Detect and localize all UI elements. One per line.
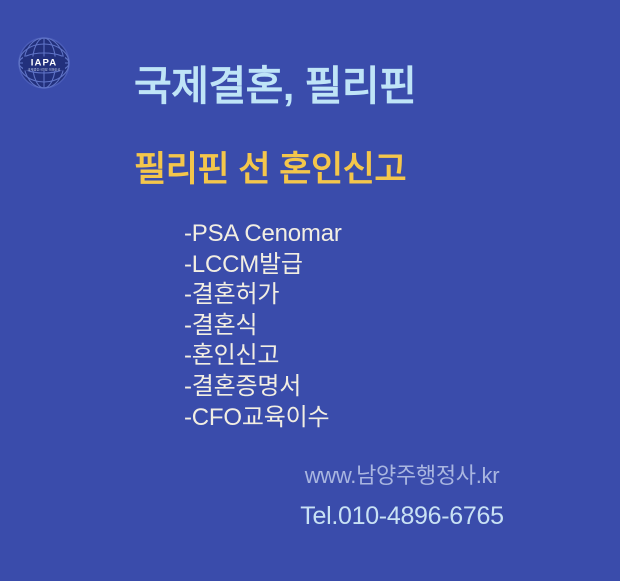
- website-url[interactable]: www.남양주행정사.kr: [272, 459, 532, 492]
- list-item: -결혼증명서: [184, 372, 342, 403]
- list-item: -PSA Cenomar: [184, 219, 342, 250]
- page-title: 국제결혼, 필리핀: [134, 63, 416, 110]
- globe-iapa-logo-icon: IAPA 국제행정사연합·대한민국: [17, 36, 71, 90]
- list-item: -LCCM발급: [184, 250, 342, 281]
- page-subtitle: 필리핀 선 혼인신고: [134, 150, 406, 190]
- poster-canvas: IAPA 국제행정사연합·대한민국 국제결혼, 필리핀 필리핀 선 혼인신고 -…: [0, 0, 622, 581]
- procedure-list: -PSA Cenomar -LCCM발급 -결혼허가 -결혼식 -혼인신고 -결…: [184, 219, 342, 433]
- list-item: -결혼허가: [184, 280, 342, 311]
- contact-block: www.남양주행정사.kr Tel.010-4896-6765: [272, 459, 532, 536]
- telephone-number[interactable]: Tel.010-4896-6765: [272, 498, 532, 536]
- list-item: -결혼식: [184, 311, 342, 342]
- list-item: -혼인신고: [184, 341, 342, 372]
- list-item: -CFO교육이수: [184, 403, 342, 434]
- iapa-logo: IAPA 국제행정사연합·대한민국: [17, 36, 71, 90]
- logo-subtext: 국제행정사연합·대한민국: [28, 67, 61, 72]
